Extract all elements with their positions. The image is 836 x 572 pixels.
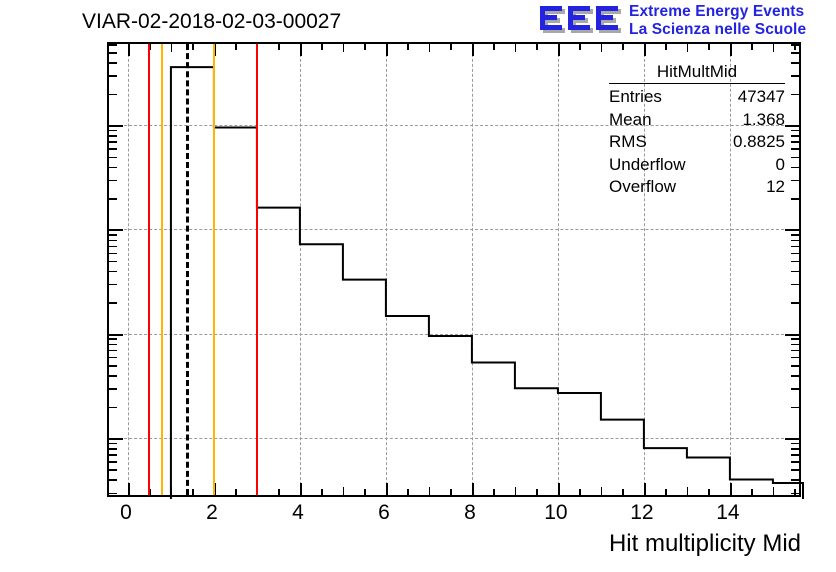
stats-row-key: Overflow (609, 176, 676, 199)
x-tick-label: 2 (206, 501, 218, 525)
stats-row: RMS0.8825 (609, 131, 785, 154)
stats-box: HitMultMid Entries47347Mean1.368RMS0.882… (609, 62, 785, 199)
stats-divider (609, 83, 785, 84)
stats-title: HitMultMid (609, 62, 785, 83)
x-tick-label: 10 (544, 501, 567, 525)
stats-row: Underflow0 (609, 154, 785, 177)
stats-row: Overflow12 (609, 176, 785, 199)
eee-logo: Extreme Energy Events La Scienza nelle S… (537, 2, 836, 42)
x-axis-title: Hit multiplicity Mid (609, 530, 801, 558)
x-tick-label: 12 (630, 501, 653, 525)
x-tick-label: 8 (464, 501, 476, 525)
stats-row-value: 12 (766, 176, 785, 199)
chart-canvas: VIAR-02-2018-02-03-00027 Extreme Ene (0, 0, 836, 572)
stats-row-value: 1.368 (742, 109, 785, 132)
stats-row-key: Entries (609, 86, 662, 109)
eee-logo-mark (537, 4, 623, 38)
stats-row: Mean1.368 (609, 109, 785, 132)
x-tick-label: 14 (716, 501, 739, 525)
stats-row-value: 47347 (738, 86, 785, 109)
x-tick-label: 6 (378, 501, 390, 525)
eee-logo-line1: Extreme Energy Events (629, 3, 806, 21)
stats-row-key: Underflow (609, 154, 686, 177)
stats-row-value: 0.8825 (733, 131, 785, 154)
page-title: VIAR-02-2018-02-03-00027 (82, 10, 341, 34)
stats-row-value: 0 (776, 154, 785, 177)
stats-row: Entries47347 (609, 86, 785, 109)
stats-row-key: Mean (609, 109, 652, 132)
x-tick-label: 4 (292, 501, 304, 525)
eee-logo-text: Extreme Energy Events La Scienza nelle S… (629, 3, 806, 39)
eee-logo-line2: La Scienza nelle Scuole (629, 21, 806, 39)
y-axis-labels: 10410310210 (0, 0, 100, 572)
x-tick-label: 0 (120, 501, 132, 525)
stats-row-key: RMS (609, 131, 647, 154)
